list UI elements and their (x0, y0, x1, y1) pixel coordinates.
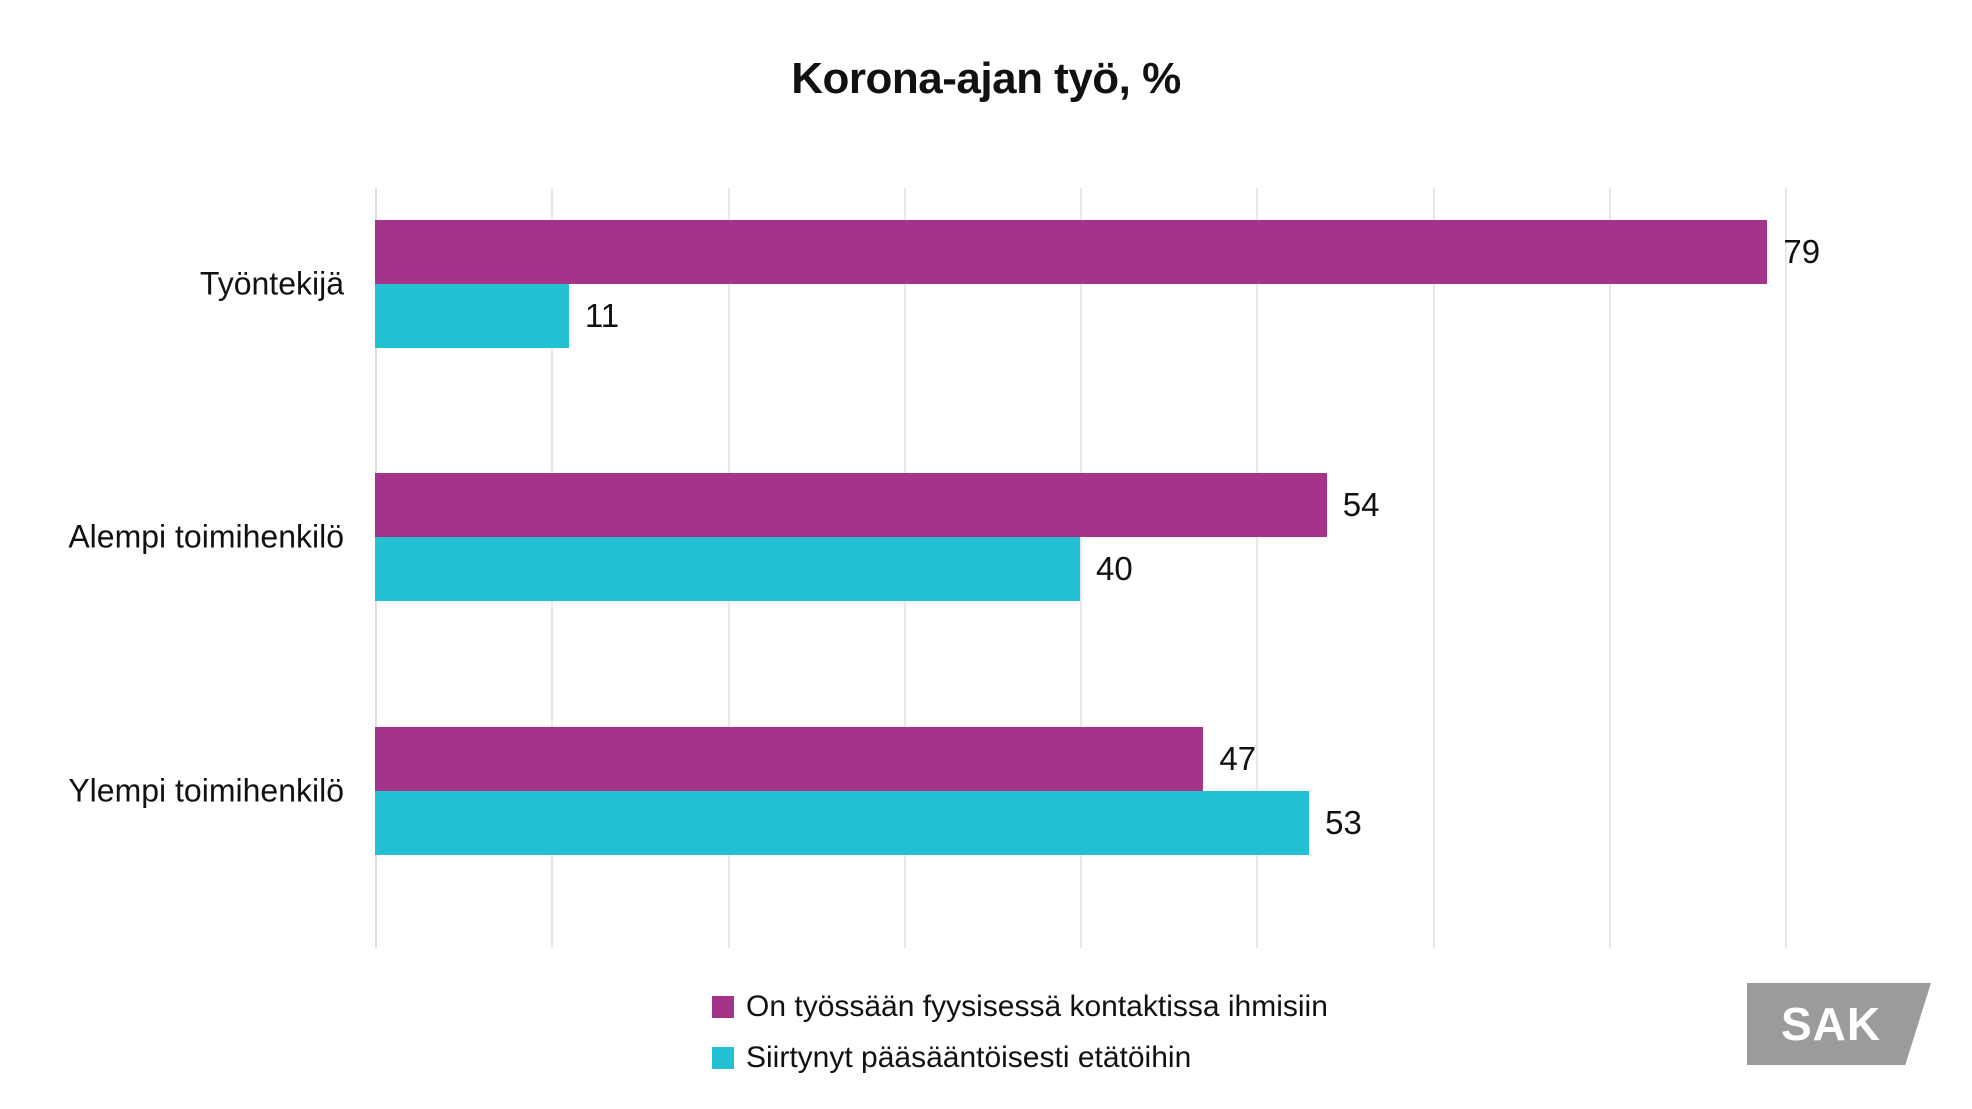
legend-label: Siirtynyt pääsääntöisesti etätöihin (746, 1041, 1191, 1075)
bar[interactable] (375, 284, 569, 348)
bar[interactable] (375, 473, 1327, 537)
category-label: Työntekijä (200, 266, 344, 303)
legend-swatch (712, 996, 734, 1018)
sak-logo-text: SAK (1747, 983, 1931, 1065)
bar-value-label: 54 (1327, 486, 1380, 524)
bar-row: 47 (375, 727, 1785, 791)
bar[interactable] (375, 220, 1767, 284)
bar[interactable] (375, 537, 1080, 601)
bar-group: 4753 (375, 727, 1785, 855)
bar-row: 54 (375, 473, 1785, 537)
legend-swatch (712, 1047, 734, 1069)
bar-value-label: 40 (1080, 550, 1133, 588)
legend-label: On työssään fyysisessä kontaktissa ihmis… (746, 990, 1328, 1024)
chart-title: Korona-ajan työ, % (0, 54, 1972, 104)
bar[interactable] (375, 727, 1203, 791)
legend-item[interactable]: On työssään fyysisessä kontaktissa ihmis… (712, 990, 1328, 1024)
bar-value-label: 11 (569, 297, 619, 335)
bar-row: 79 (375, 220, 1785, 284)
bar-row: 53 (375, 791, 1785, 855)
bar-group: 5440 (375, 473, 1785, 601)
sak-logo: SAK (1747, 983, 1931, 1065)
bar[interactable] (375, 791, 1309, 855)
gridline-80 (1785, 188, 1787, 948)
bar-value-label: 53 (1309, 804, 1362, 842)
bar-value-label: 79 (1767, 233, 1820, 271)
plot-area: 791154404753 (375, 188, 1785, 948)
bar-value-label: 47 (1203, 740, 1256, 778)
category-label: Ylempi toimihenkilö (68, 772, 344, 809)
bar-row: 11 (375, 284, 1785, 348)
bar-row: 40 (375, 537, 1785, 601)
category-label: Alempi toimihenkilö (68, 519, 344, 556)
bar-group: 7911 (375, 220, 1785, 348)
legend-item[interactable]: Siirtynyt pääsääntöisesti etätöihin (712, 1041, 1191, 1075)
